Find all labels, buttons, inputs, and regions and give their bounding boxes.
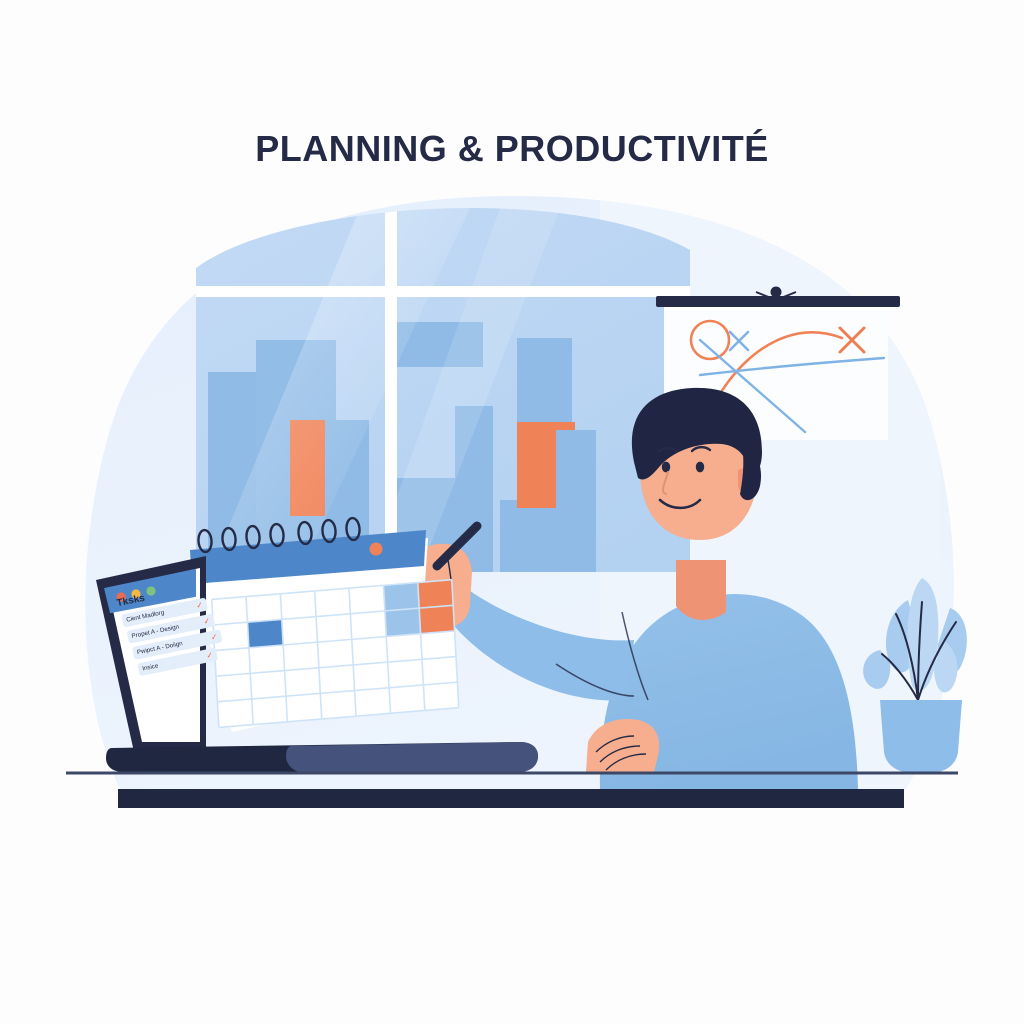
check-icon: ✓ <box>195 601 203 610</box>
calendar-accent-dot <box>370 543 383 556</box>
illustration-stage: PLANNING & PRODUCTIVITÉ <box>0 0 1024 1024</box>
whiteboard-rail <box>656 296 900 307</box>
task-label: Cient Madlorg <box>126 609 165 624</box>
plant-pot <box>880 700 962 774</box>
check-icon: ✓ <box>206 651 214 660</box>
left-eye <box>662 462 670 473</box>
office-window <box>196 208 690 572</box>
check-icon: ✓ <box>203 617 211 626</box>
task-label: Pwipct A - Doiign <box>136 640 183 656</box>
whiteboard-hook-icon <box>771 287 782 298</box>
laptop-base-accent <box>286 742 538 772</box>
task-label: Insice <box>142 662 159 672</box>
task-label: Propet A - Design <box>131 623 180 639</box>
check-icon: ✓ <box>210 632 218 641</box>
right-eye <box>696 462 704 473</box>
planning-productivity-illustration <box>0 0 1024 1024</box>
desk-front-bar <box>118 789 904 808</box>
